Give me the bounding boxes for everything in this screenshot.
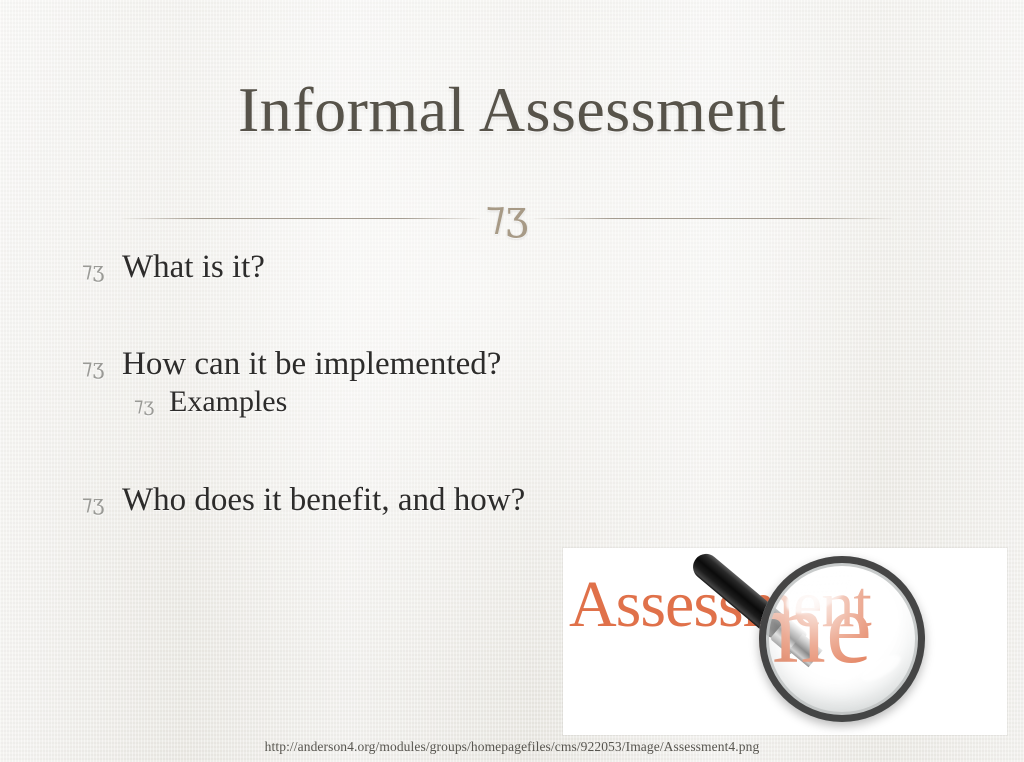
- divider-rule-left: [122, 218, 480, 219]
- list-spacer: [82, 419, 882, 481]
- list-item-label: How can it be implemented?: [122, 345, 501, 384]
- list-spacer: [82, 287, 882, 345]
- lens-highlight-bottom: [858, 650, 904, 686]
- bullet-ornament-icon: ⁊ʒ: [134, 394, 169, 416]
- flourish-ornament-icon: ⁊ʒ: [486, 196, 528, 236]
- list-item: ⁊ʒ What is it?: [82, 248, 882, 287]
- list-item-label: What is it?: [122, 248, 265, 287]
- list-item-label: Who does it benefit, and how?: [122, 481, 525, 520]
- list-item-sub: ⁊ʒ Examples: [82, 384, 882, 419]
- title-divider: ⁊ʒ: [122, 196, 892, 240]
- slide-image-assessment: Assessment me: [563, 548, 1007, 735]
- list-item: ⁊ʒ How can it be implemented?: [82, 345, 882, 384]
- divider-rule-right: [534, 218, 892, 219]
- bullet-ornament-icon: ⁊ʒ: [82, 491, 122, 516]
- page-title: Informal Assessment: [0, 76, 1024, 143]
- bullet-ornament-icon: ⁊ʒ: [82, 355, 122, 380]
- image-source-caption: http://anderson4.org/modules/groups/home…: [0, 739, 1024, 755]
- bullet-list: ⁊ʒ What is it? ⁊ʒ How can it be implemen…: [82, 248, 882, 520]
- magnifier-lens-icon: [759, 556, 925, 722]
- presentation-slide: Informal Assessment ⁊ʒ ⁊ʒ What is it? ⁊ʒ…: [0, 0, 1024, 762]
- list-item-sub-label: Examples: [169, 384, 287, 419]
- list-item: ⁊ʒ Who does it benefit, and how?: [82, 481, 882, 520]
- bullet-ornament-icon: ⁊ʒ: [82, 258, 122, 283]
